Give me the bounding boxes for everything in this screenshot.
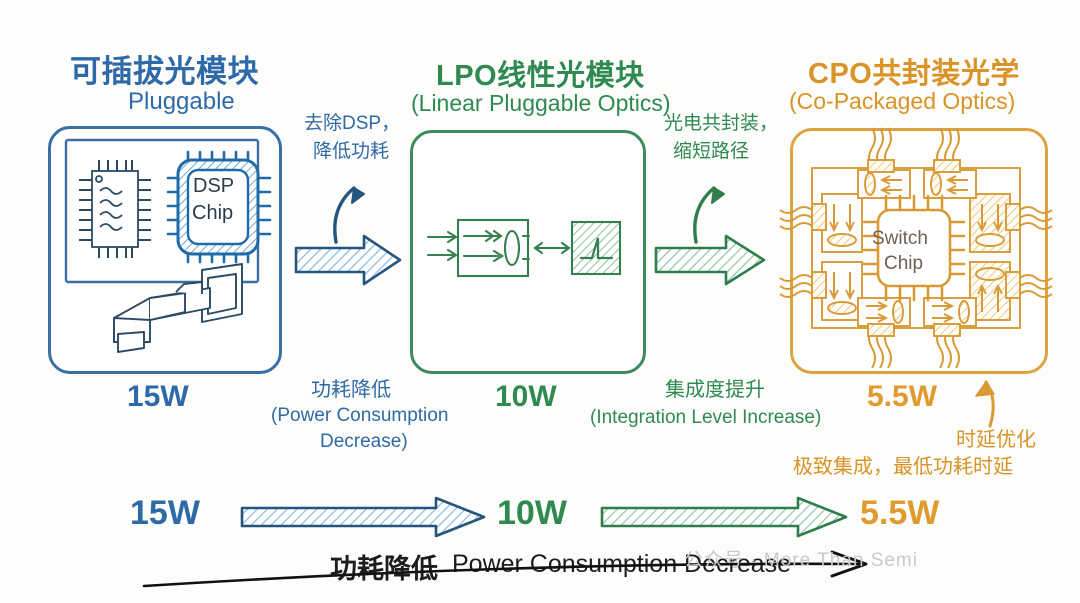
transition-note-2-line1: 光电共封装，	[664, 112, 778, 136]
lpo-optical-path	[426, 212, 636, 286]
summary-arrow-blue	[240, 496, 490, 538]
stage-title-lpo-cn: LPO线性光模块	[436, 52, 645, 94]
latency-label: 时延优化	[956, 423, 1036, 452]
stage-title-lpo-en: (Linear Pluggable Optics)	[411, 90, 671, 117]
summary-power-end: 5.5W	[860, 494, 939, 533]
transition-arrow-2	[652, 178, 782, 286]
transition-note-1-line1: 去除DSP，	[304, 112, 400, 136]
transition-caption-1-en1: (Power Consumption	[271, 404, 448, 427]
stage-title-cpo-en: (Co-Packaged Optics)	[789, 88, 1015, 115]
transition-caption-1-en2: Decrease)	[320, 430, 408, 453]
transition-caption-1-cn: 功耗降低	[311, 378, 391, 402]
transition-note-2-line2: 缩短路径	[673, 140, 749, 164]
stage-title-pluggable-en: Pluggable	[128, 88, 235, 116]
power-label-lpo: 10W	[495, 380, 557, 414]
watermark: 公众号 · More Than Semi	[684, 545, 918, 572]
stage-title-cpo-cn: CPO共封装光学	[808, 50, 1020, 92]
transition-caption-2-cn: 集成度提升	[665, 378, 765, 402]
summary-power-mid: 10W	[497, 494, 567, 533]
transition-caption-2-en1: (Integration Level Increase)	[590, 406, 821, 429]
pluggable-driver-ic	[74, 158, 156, 263]
dsp-chip-label-line1: DSP	[193, 175, 234, 198]
switch-chip-label-line1: Switch	[872, 228, 928, 250]
dsp-chip-label-line2: Chip	[192, 202, 233, 225]
stage-title-pluggable-cn: 可插拔光模块	[70, 46, 259, 91]
latency-callout-arrow	[960, 372, 1012, 430]
transition-arrow-1	[292, 178, 416, 286]
power-label-cpo: 5.5W	[867, 380, 937, 414]
summary-power-start: 15W	[130, 494, 200, 533]
transition-note-1-line2: 降低功耗	[313, 140, 389, 164]
diagram-canvas: 可插拔光模块 Pluggable	[0, 0, 1080, 603]
switch-chip-label-line2: Chip	[884, 253, 923, 275]
summary-arrow-green	[600, 496, 852, 538]
pluggable-transceiver-module	[90, 262, 250, 366]
power-label-pluggable: 15W	[127, 380, 189, 414]
cpo-summary-label: 极致集成，最低功耗时延	[793, 450, 1013, 479]
